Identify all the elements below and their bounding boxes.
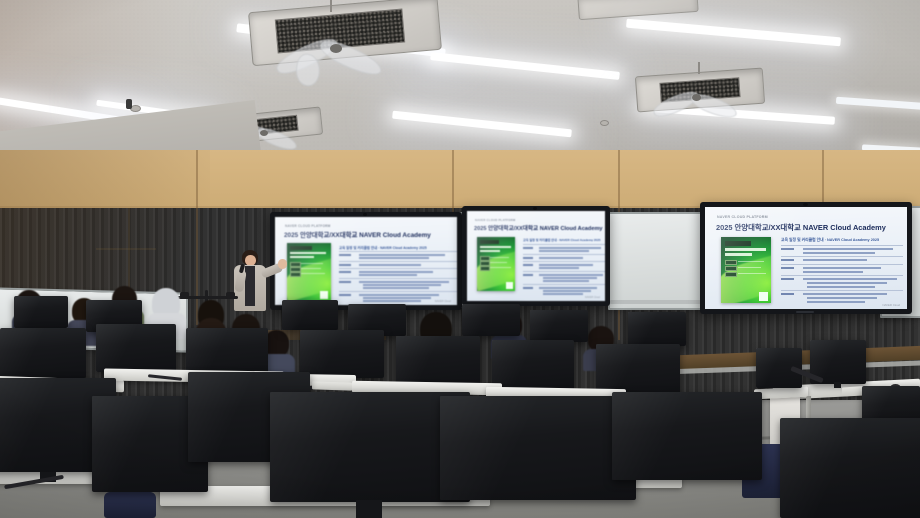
slide-eyebrow: NAVER CLOUD PLATFORM [285,224,331,228]
monitor [462,304,520,336]
display-camera-icon [363,213,367,216]
slide-subtitle: 교육 일정 및 커리큘럼 안내 · NAVER Cloud Academy 20… [523,238,601,242]
display-camera-icon [803,203,808,206]
monitor-arm-mount [226,292,235,299]
monitor [492,340,574,390]
slide-footer: NAVER Cloud [585,296,600,299]
wall-panel-seam [96,248,156,250]
slide-footer: NAVER Cloud [435,300,451,303]
ceiling-camera [126,99,132,109]
monitor-arm-mount [180,292,189,299]
display-left-screen: NAVER CLOUD PLATFORM 2025 안양대학교/XX대학교 NA… [275,217,457,305]
display-right[interactable]: NAVER CLOUD PLATFORM 2025 안양대학교/XX대학교 NA… [700,202,912,314]
classroom-photo: NAVER CLOUD PLATFORM 2025 안양대학교/XX대학교 NA… [0,0,920,518]
slide-title: 2025 안양대학교/XX대학교 NAVER Cloud Academy [716,222,886,233]
monitor [612,392,762,480]
slide-title: 2025 안양대학교/XX대학교 NAVER Cloud Academy [474,224,603,232]
monitor [440,396,636,500]
display-camera-icon [533,207,537,210]
whiteboard [608,212,708,310]
monitor-stand [356,500,382,518]
chair[interactable] [104,492,156,518]
presenter-hand [278,259,287,269]
slide-eyebrow: NAVER CLOUD PLATFORM [475,218,515,222]
display-left[interactable]: NAVER CLOUD PLATFORM 2025 안양대학교/XX대학교 NA… [270,212,462,310]
monitor [14,296,68,328]
slide-poster [721,237,771,303]
monitor [96,324,176,372]
display-right-screen: NAVER CLOUD PLATFORM 2025 안양대학교/XX대학교 NA… [705,207,907,309]
slide-subtitle: 교육 일정 및 커리큘럼 안내 · NAVER Cloud Academy 20… [781,238,879,243]
slide-title: 2025 안양대학교/XX대학교 NAVER Cloud Academy [284,230,431,239]
whiteboard-pen-tray [610,300,702,304]
monitor [780,418,920,518]
slide-subtitle: 교육 일정 및 커리큘럼 안내 · NAVER Cloud Academy 20… [339,245,427,250]
slide-footer: NAVER Cloud [882,303,900,307]
monitor-stand [834,382,841,388]
slide-poster [287,243,331,301]
monitor [628,312,686,346]
slide-poster [477,237,515,291]
wall-panel-seam [196,150,198,325]
keyboard[interactable] [312,381,352,390]
presenter-inner-top [245,266,255,306]
monitor [0,328,86,378]
monitor [300,330,384,378]
monitor [530,310,588,342]
slide-eyebrow: NAVER CLOUD PLATFORM [717,215,768,219]
display-center-screen: NAVER CLOUD PLATFORM 2025 안양대학교/XX대학교 NA… [467,211,605,301]
smoke-detector [600,120,609,126]
monitor [396,336,480,386]
display-brand-logo [796,311,814,313]
monitor [282,300,338,330]
wall-panel-seam [452,150,454,220]
display-center[interactable]: NAVER CLOUD PLATFORM 2025 안양대학교/XX대학교 NA… [462,206,610,306]
